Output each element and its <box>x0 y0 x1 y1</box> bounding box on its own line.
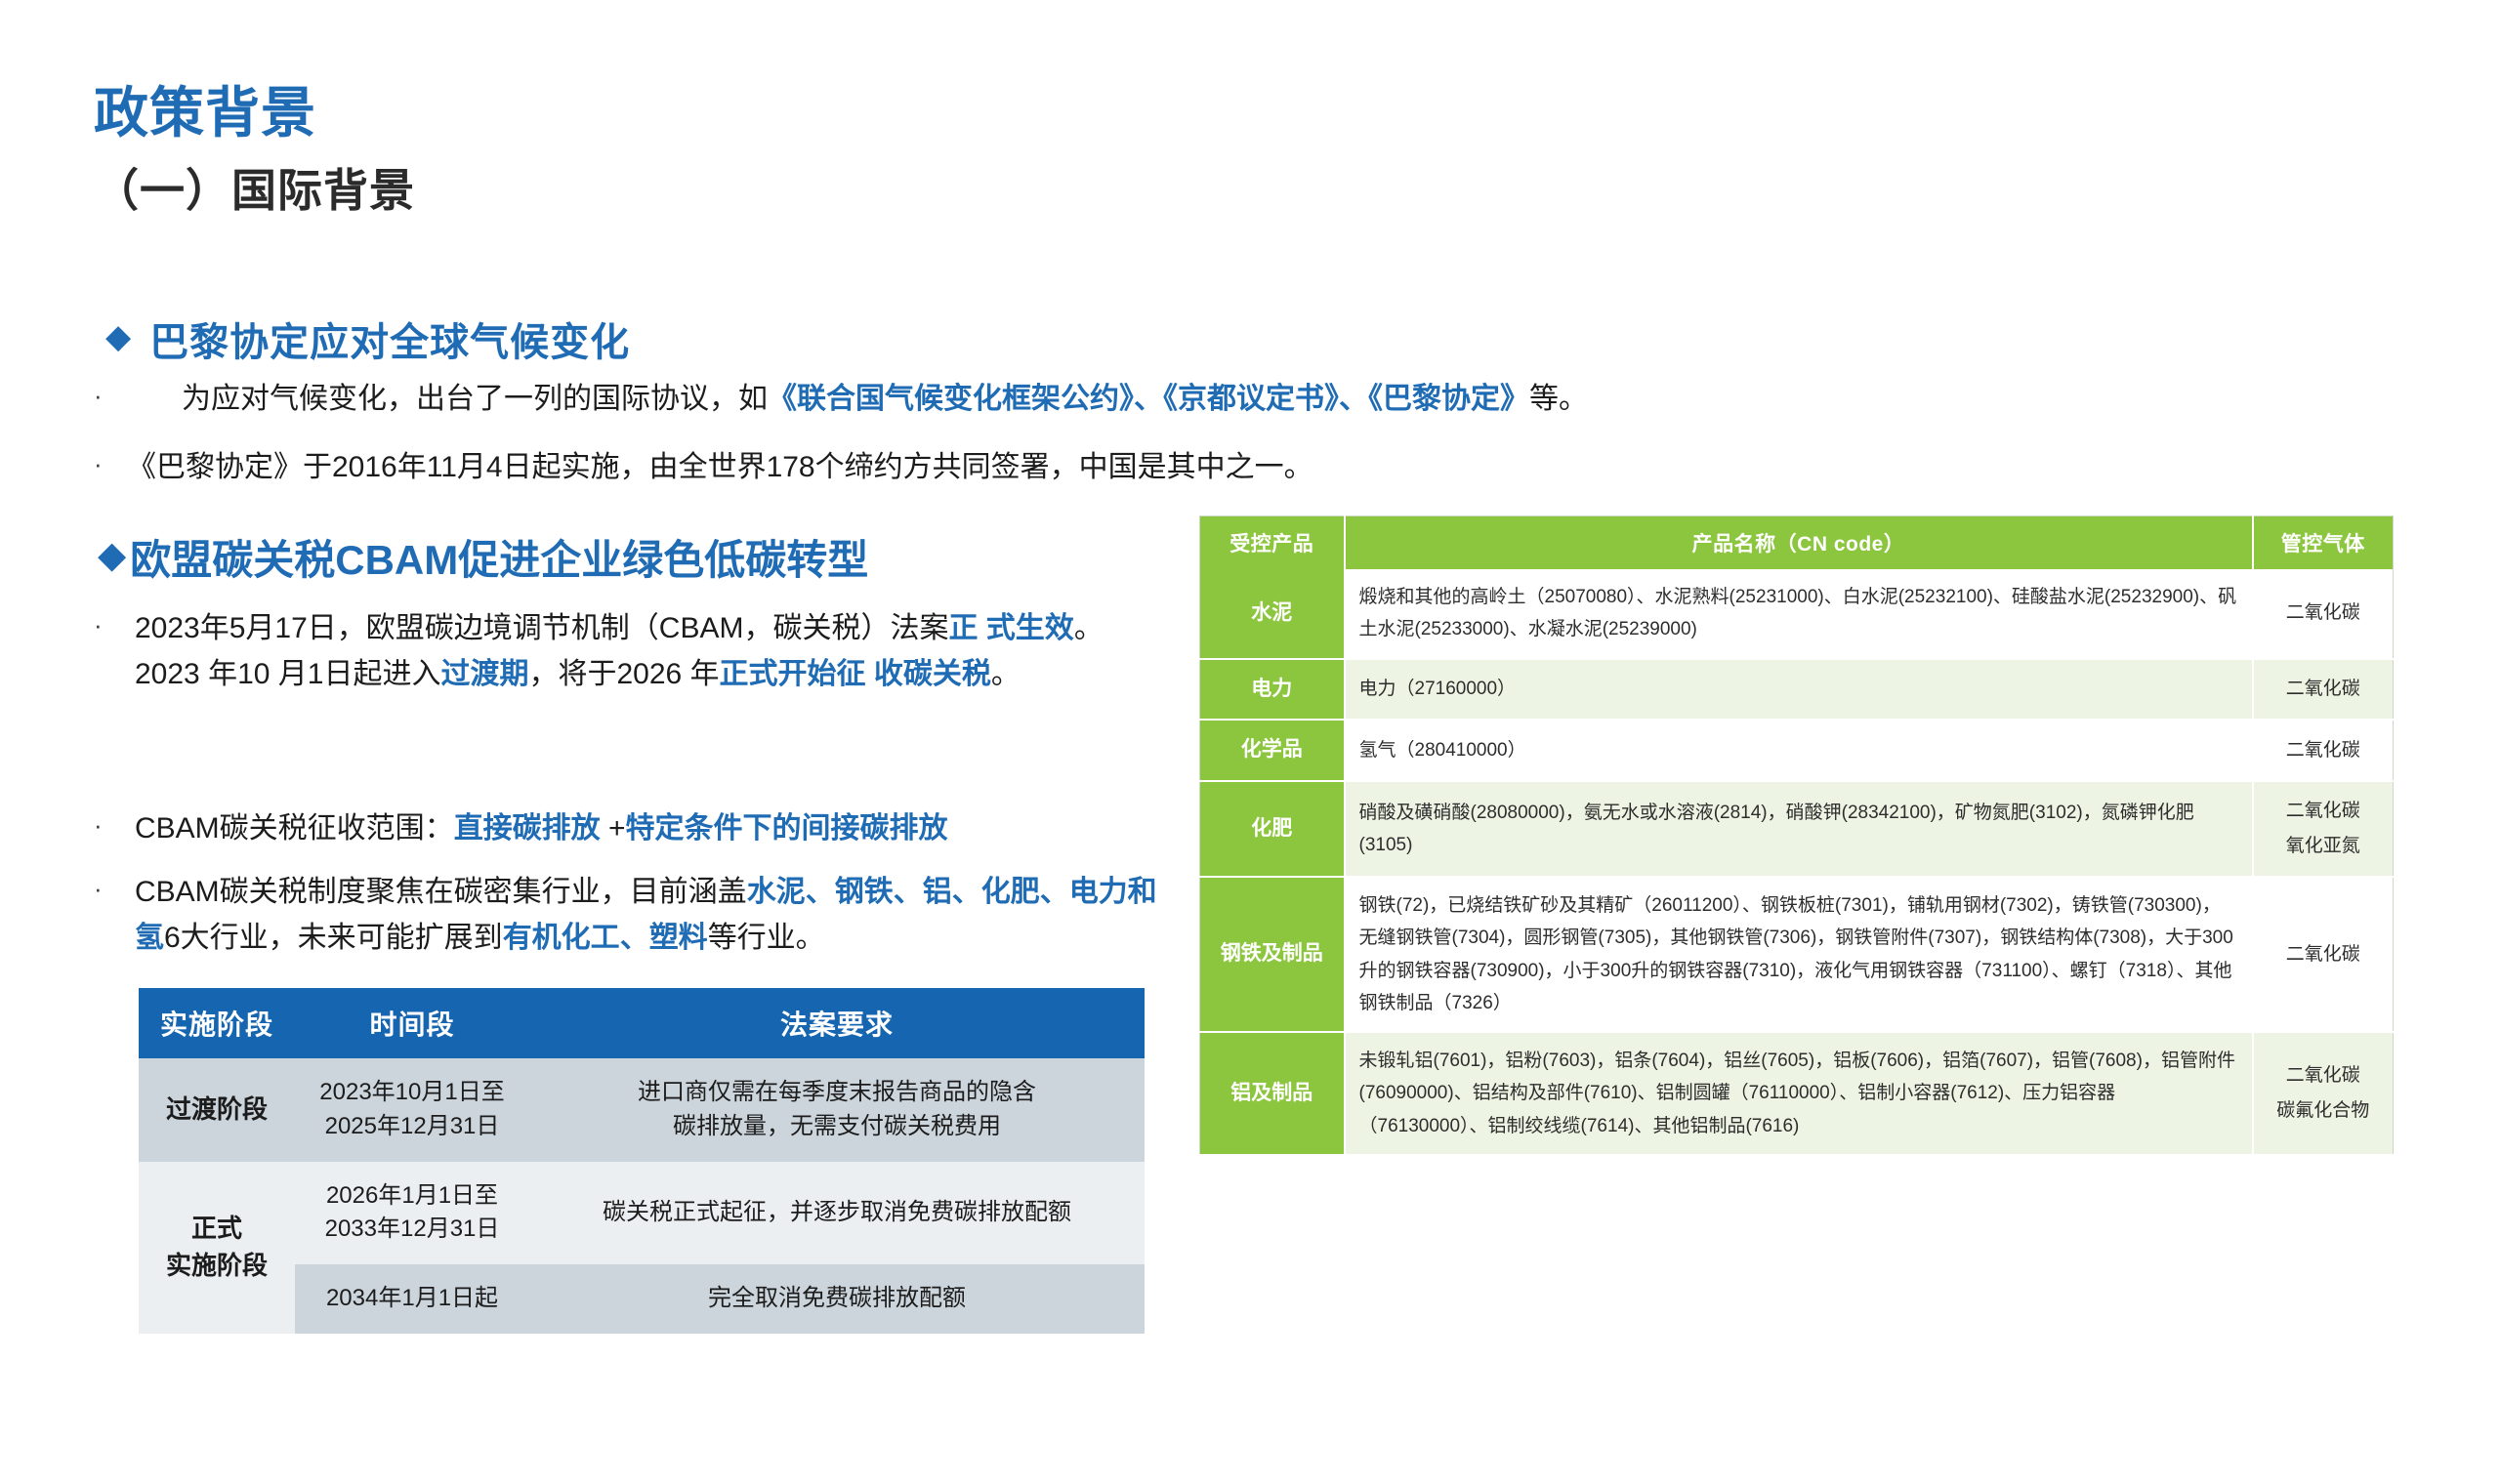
implementation-phase-table: 实施阶段 时间段 法案要求 过渡阶段 2023年10月1日至2025年12月31… <box>139 988 1145 1334</box>
table-row: 化学品 氢气（280410000） 二氧化碳 <box>1200 720 2394 781</box>
table-row: 化肥 硝酸及磺硝酸(28080000)，氨无水或水溶液(2814)，硝酸钾(28… <box>1200 781 2394 877</box>
page-subtitle: （一）国际背景 <box>94 166 415 216</box>
products-cell: 未锻轧铝(7601)，铝粉(7603)，铝条(7604)，铝丝(7605)，铝板… <box>1345 1032 2253 1155</box>
products-cell: 电力（27160000） <box>1345 659 2253 721</box>
phase-table-header-period: 时间段 <box>295 988 529 1058</box>
page-title: 政策背景 <box>94 83 316 144</box>
gas-cell: 二氧化碳碳氟化合物 <box>2253 1032 2394 1155</box>
bullet-cbam-2: · CBAM碳关税征收范围：直接碳排放 +特定条件下的间接碳排放 <box>94 805 1168 851</box>
category-cell: 化肥 <box>1200 781 1345 877</box>
diamond-bullet-icon: ◆ <box>98 537 126 574</box>
category-cell: 水泥 <box>1200 569 1345 659</box>
phase-cell: 正式实施阶段 <box>139 1162 295 1334</box>
products-cell: 钢铁(72)，已烧结铁矿砂及其精矿（26011200）、钢铁板桩(7301)，铺… <box>1345 877 2253 1032</box>
bullet-paris-1-text: 为应对气候变化，出台了一列的国际协议，如《联合国气候变化框架公约》、《京都议定书… <box>152 376 2047 422</box>
period-cell: 2026年1月1日至2033年12月31日 <box>295 1162 529 1265</box>
gas-cell: 二氧化碳 <box>2253 569 2394 659</box>
bullet-paris-1: · 为应对气候变化，出台了一列的国际协议，如《联合国气候变化框架公约》、《京都议… <box>94 376 2047 422</box>
table-row: 钢铁及制品 钢铁(72)，已烧结铁矿砂及其精矿（26011200）、钢铁板桩(7… <box>1200 877 2394 1032</box>
slide-root: 政策背景 （一）国际背景 ◆ 巴黎协定应对全球气候变化 · 为应对气候变化，出台… <box>0 0 2500 1484</box>
table-row: 水泥 煅烧和其他的高岭土（25070080）、水泥熟料(25231000)、白水… <box>1200 569 2394 659</box>
products-cell: 氢气（280410000） <box>1345 720 2253 781</box>
gas-cell: 二氧化碳 <box>2253 659 2394 721</box>
phase-table-header-phase: 实施阶段 <box>139 988 295 1058</box>
product-table-header-category: 受控产品 <box>1200 516 1345 570</box>
gas-cell: 二氧化碳 <box>2253 877 2394 1032</box>
table-row: 电力 电力（27160000） 二氧化碳 <box>1200 659 2394 721</box>
section-heading-paris: ◆ 巴黎协定应对全球气候变化 <box>105 310 630 367</box>
diamond-bullet-icon: ◆ <box>105 320 132 353</box>
bullet-cbam-3-text: CBAM碳关税制度聚焦在碳密集行业，目前涵盖水泥、钢铁、铝、化肥、电力和氢6大行… <box>135 869 1168 962</box>
table-header-row: 受控产品 产品名称（CN code） 管控气体 <box>1200 516 2394 570</box>
product-table-header-gas: 管控气体 <box>2253 516 2394 570</box>
requirement-cell: 碳关税正式起征，并逐步取消免费碳排放配额 <box>529 1162 1145 1265</box>
requirement-cell: 完全取消免费碳排放配额 <box>529 1264 1145 1334</box>
phase-table-header-requirement: 法案要求 <box>529 988 1145 1058</box>
bullet-paris-2: · 《巴黎协定》于2016年11月4日起实施，由全世界178个缔约方共同签署，中… <box>94 444 2047 490</box>
bullet-cbam-1-text: 2023年5月17日，欧盟碳边境调节机制（CBAM，碳关税）法案正 式生效。20… <box>135 605 1148 698</box>
category-cell: 化学品 <box>1200 720 1345 781</box>
category-cell: 电力 <box>1200 659 1345 721</box>
section-heading-cbam: ◆ 欧盟碳关税CBAM促进企业绿色低碳转型 <box>98 527 868 587</box>
table-row: 过渡阶段 2023年10月1日至2025年12月31日 进口商仅需在每季度末报告… <box>139 1058 1145 1162</box>
requirement-cell: 进口商仅需在每季度末报告商品的隐含碳排放量，无需支付碳关税费用 <box>529 1058 1145 1162</box>
bullet-cbam-1: · 2023年5月17日，欧盟碳边境调节机制（CBAM，碳关税）法案正 式生效。… <box>94 605 1148 698</box>
gas-cell: 二氧化碳 <box>2253 720 2394 781</box>
bullet-dot: · <box>94 805 135 845</box>
gas-cell: 二氧化碳氧化亚氮 <box>2253 781 2394 877</box>
category-cell: 钢铁及制品 <box>1200 877 1345 1032</box>
products-cell: 煅烧和其他的高岭土（25070080）、水泥熟料(25231000)、白水泥(2… <box>1345 569 2253 659</box>
covered-products-table: 受控产品 产品名称（CN code） 管控气体 水泥 煅烧和其他的高岭土（250… <box>1199 515 2394 1156</box>
category-cell: 铝及制品 <box>1200 1032 1345 1155</box>
period-cell: 2023年10月1日至2025年12月31日 <box>295 1058 529 1162</box>
bullet-dot: · <box>94 605 135 645</box>
product-table-header-name: 产品名称（CN code） <box>1345 516 2253 570</box>
table-header-row: 实施阶段 时间段 法案要求 <box>139 988 1145 1058</box>
period-cell: 2034年1月1日起 <box>295 1264 529 1334</box>
table-row: 正式实施阶段 2026年1月1日至2033年12月31日 碳关税正式起征，并逐步… <box>139 1162 1145 1265</box>
table-row: 铝及制品 未锻轧铝(7601)，铝粉(7603)，铝条(7604)，铝丝(760… <box>1200 1032 2394 1155</box>
phase-cell: 过渡阶段 <box>139 1058 295 1162</box>
bullet-dot: · <box>94 444 127 484</box>
section-heading-cbam-label: 欧盟碳关税CBAM促进企业绿色低碳转型 <box>130 527 868 587</box>
bullet-cbam-3: · CBAM碳关税制度聚焦在碳密集行业，目前涵盖水泥、钢铁、铝、化肥、电力和氢6… <box>94 869 1168 962</box>
section-heading-paris-label: 巴黎协定应对全球气候变化 <box>149 310 630 367</box>
bullet-cbam-2-text: CBAM碳关税征收范围：直接碳排放 +特定条件下的间接碳排放 <box>135 805 1168 851</box>
bullet-dot: · <box>94 869 135 909</box>
bullet-dot: · <box>94 376 152 416</box>
bullet-paris-2-text: 《巴黎协定》于2016年11月4日起实施，由全世界178个缔约方共同签署，中国是… <box>127 444 2047 490</box>
products-cell: 硝酸及磺硝酸(28080000)，氨无水或水溶液(2814)，硝酸钾(28342… <box>1345 781 2253 877</box>
